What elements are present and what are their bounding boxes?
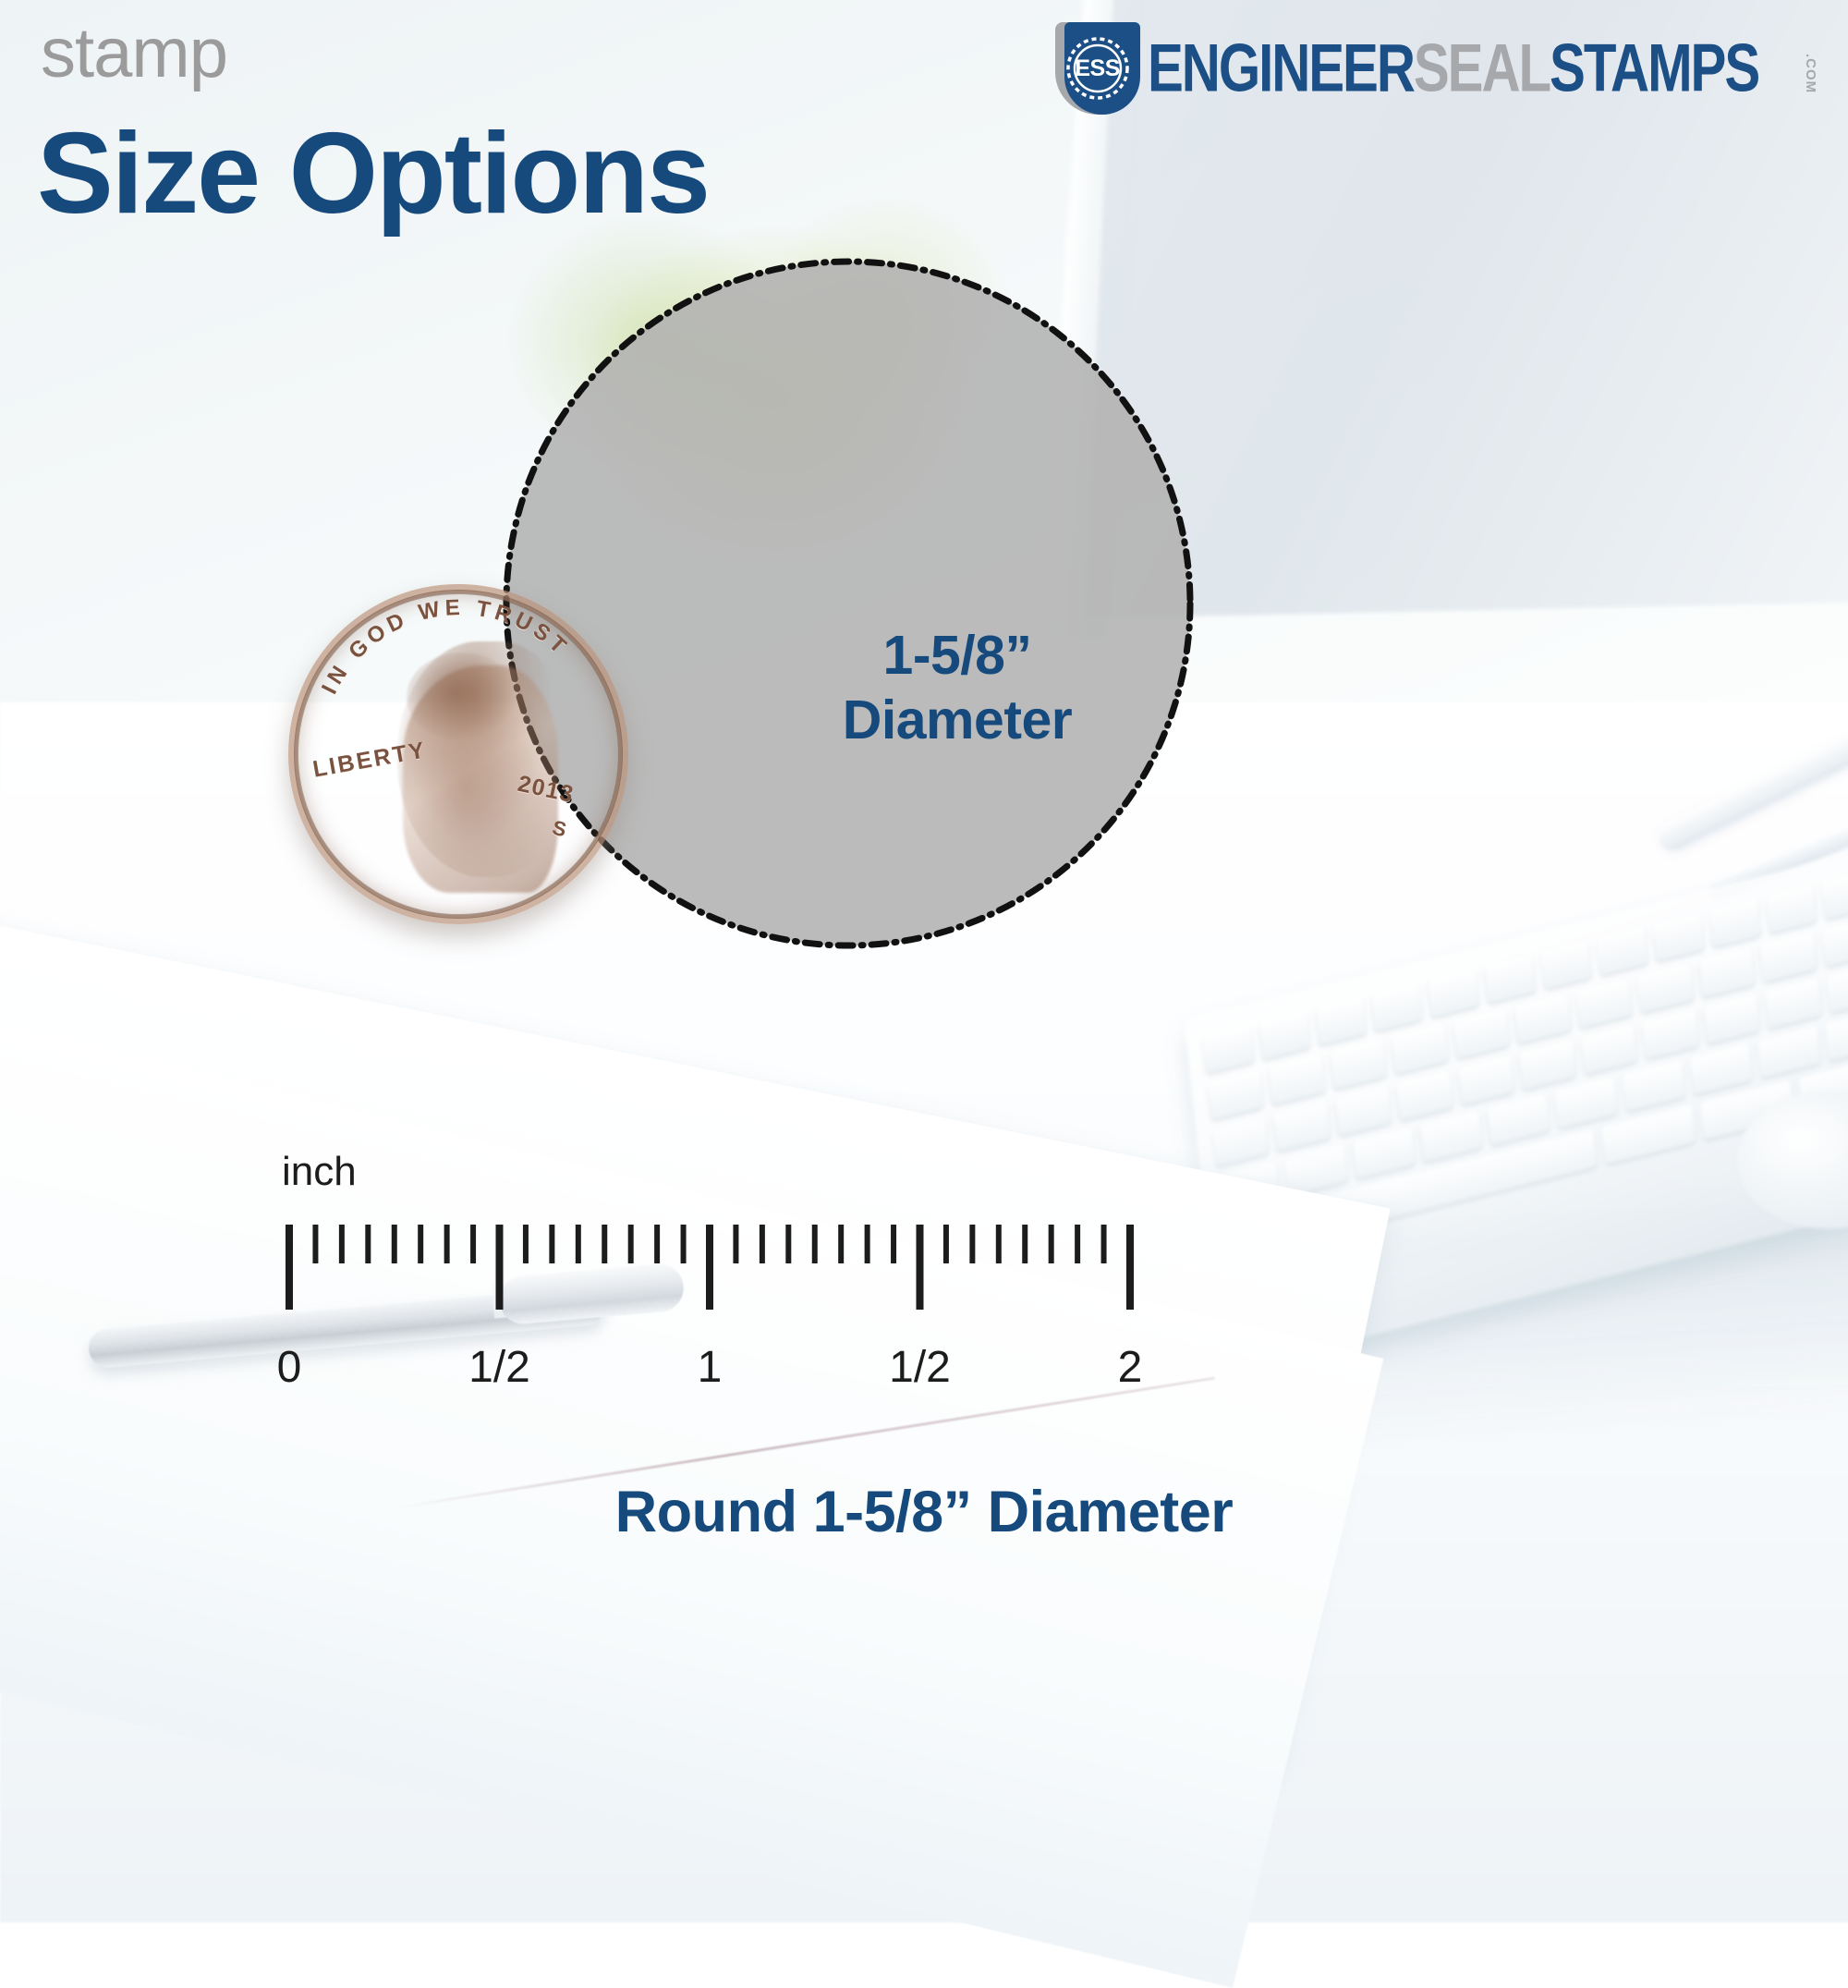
size-preview-label: 1-5/8” Diameter — [843, 624, 1073, 752]
penny-motto: IN GOD WE TRUST — [307, 597, 612, 745]
page-title: Size Options — [37, 116, 709, 231]
brand-wordmark: ENGINEER SEAL STAMPS — [1148, 30, 1758, 107]
wordmark-engineer: ENGINEER — [1148, 30, 1414, 107]
wordmark-stamps: STAMPS — [1550, 30, 1758, 107]
page-eyebrow: stamp — [41, 18, 227, 89]
size-caption: Round 1-5/8” Diameter — [0, 1479, 1848, 1545]
size-label-line2: Diameter — [843, 689, 1073, 753]
penny-coin: IN GOD WE TRUST LIBERTY 2013 S — [288, 584, 628, 924]
size-label-line1: 1-5/8” — [843, 624, 1073, 689]
wordmark-tld: .COM — [1803, 54, 1818, 93]
svg-text:IN GOD WE TRUST: IN GOD WE TRUST — [317, 597, 574, 698]
wordmark-seal: SEAL — [1414, 30, 1550, 107]
brand-logo[interactable]: ESS ENGINEER SEAL STAMPS .COM — [1050, 20, 1818, 116]
badge-initials: ESS — [1062, 32, 1134, 104]
ess-badge-icon: ESS — [1050, 20, 1146, 116]
